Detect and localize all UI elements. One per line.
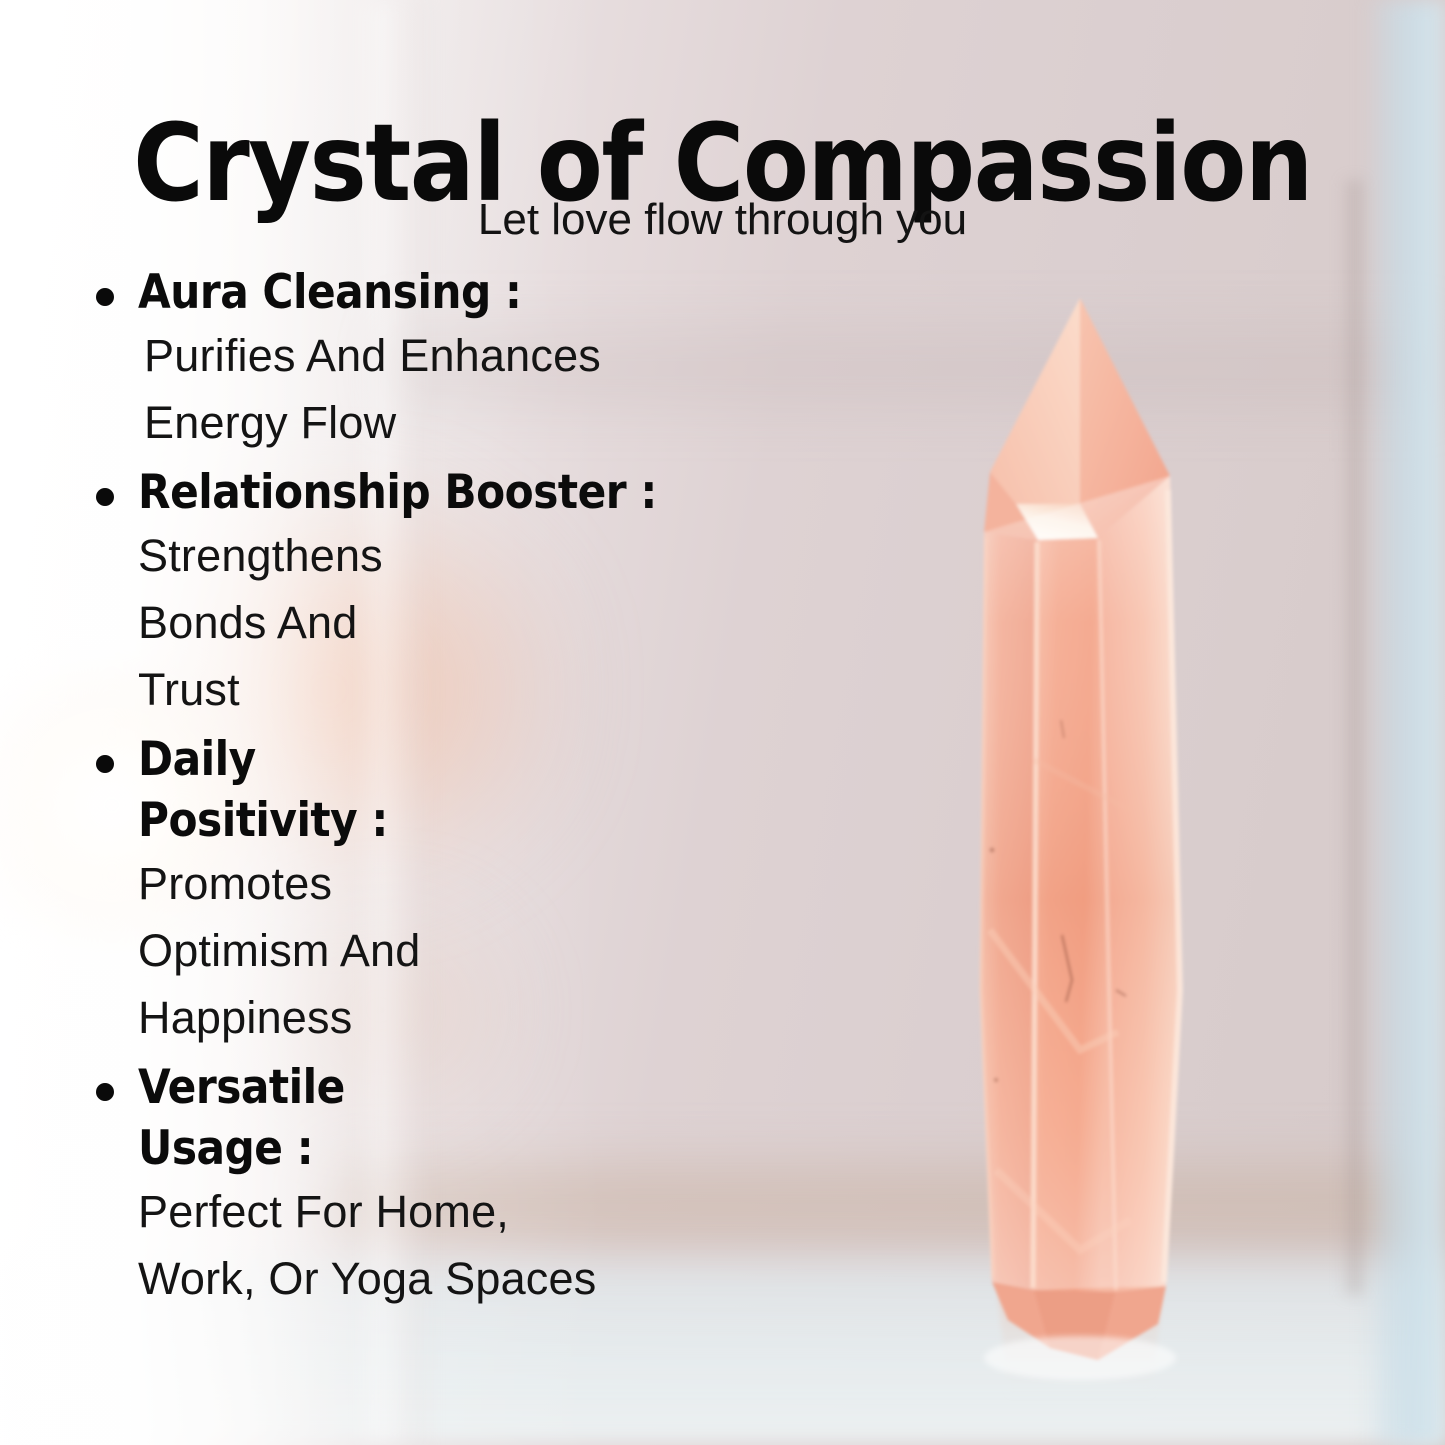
crystal-internal-plane-3 <box>1034 760 1130 810</box>
crystal-facet-left <box>980 532 1038 1290</box>
feature-heading: Versatile Usage : <box>138 1057 428 1179</box>
crystal-base-center <box>1034 1290 1115 1360</box>
crystal-body-group <box>980 298 1182 1360</box>
rose-quartz-crystal-icon <box>930 290 1230 1400</box>
crystal-internal-plane-2 <box>996 1170 1130 1250</box>
crystal-vertical-shading <box>980 476 1182 1290</box>
bullet-point-icon <box>96 288 114 306</box>
crystal-contact-glow <box>984 1336 1176 1380</box>
feature-description: Promotes Optimism And Happiness <box>138 851 498 1051</box>
list-item: Versatile Usage : Perfect For Home, Work… <box>86 1057 786 1312</box>
bullet-point-icon <box>96 1083 114 1101</box>
list-item: Daily Positivity : Promotes Optimism And… <box>86 729 786 1051</box>
crystal-tip-right-facet <box>1080 298 1170 538</box>
feature-description: Perfect For Home, Work, Or Yoga Spaces <box>138 1179 608 1312</box>
crystal-tip-highlight <box>1016 504 1098 540</box>
list-item: Aura Cleansing : Purifies And Enhances E… <box>86 262 786 456</box>
bullet-point-icon <box>96 488 114 506</box>
background-wall-edge <box>1341 180 1367 1295</box>
crystal-inclusion-3 <box>1061 720 1064 738</box>
crystal-seam-highlight-left <box>1033 542 1037 1288</box>
crystal-facet-center <box>1034 538 1115 1292</box>
list-item: Relationship Booster : Strengthens Bonds… <box>86 462 786 723</box>
crystal-inclusion-2 <box>1116 990 1126 996</box>
bullet-point-icon <box>96 755 114 773</box>
product-poster: Crystal of Compassion Let love flow thro… <box>0 0 1445 1445</box>
feature-description: Strengthens Bonds And Trust <box>138 523 468 723</box>
crystal-internal-plane-1 <box>990 930 1118 1050</box>
crystal-reflection <box>998 1295 1162 1398</box>
page-subtitle: Let love flow through you <box>0 196 1445 244</box>
crystal-inclusion-1 <box>1062 935 1072 1002</box>
crystal-base-facets <box>992 1282 1166 1360</box>
crystal-product-image <box>930 290 1230 1400</box>
feature-list: Aura Cleansing : Purifies And Enhances E… <box>86 262 786 1319</box>
crystal-seam-highlight-right <box>1099 540 1116 1290</box>
crystal-facet-right <box>1098 476 1182 1292</box>
crystal-tip-left-edge <box>984 472 1038 540</box>
feature-heading: Aura Cleansing : <box>138 262 786 323</box>
feature-description: Purifies And Enhances Energy Flow <box>144 323 744 456</box>
feature-heading: Daily Positivity : <box>138 729 438 851</box>
crystal-tip-left-facet <box>990 298 1080 504</box>
feature-heading: Relationship Booster : <box>138 462 786 523</box>
crystal-inclusion-5 <box>994 1078 998 1082</box>
crystal-right-edge-highlight <box>1164 490 1180 1282</box>
crystal-inclusion-4 <box>990 848 995 853</box>
crystal-left-edge-highlight <box>981 538 993 1278</box>
